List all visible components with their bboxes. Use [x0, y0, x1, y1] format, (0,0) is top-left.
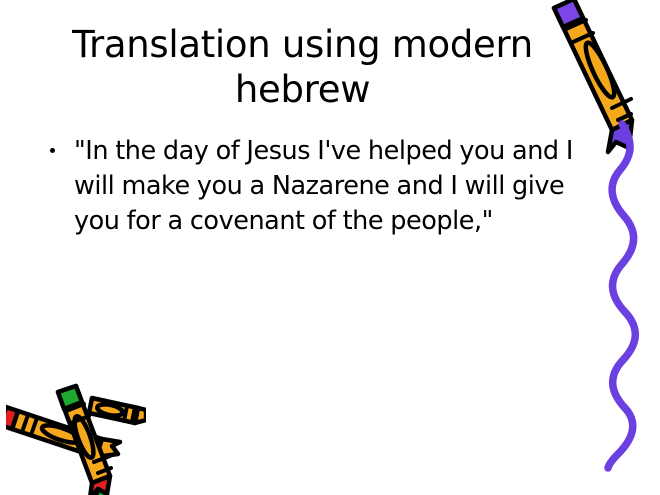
crayons-bottom-left [6, 380, 146, 495]
bullet-item: "In the day of Jesus I've helped you and… [48, 134, 600, 239]
purple-squiggle-graphic [592, 120, 660, 480]
slide-title: Translation using modern hebrew [40, 22, 565, 112]
bullet-text: "In the day of Jesus I've helped you and… [74, 136, 573, 236]
bullet-dot-icon [50, 148, 55, 153]
slide-body: "In the day of Jesus I've helped you and… [48, 134, 600, 239]
crayons-bottom-left-graphic [6, 380, 146, 495]
purple-squiggle [592, 120, 660, 484]
slide-canvas: Translation using modern hebrew "In the … [0, 0, 660, 495]
